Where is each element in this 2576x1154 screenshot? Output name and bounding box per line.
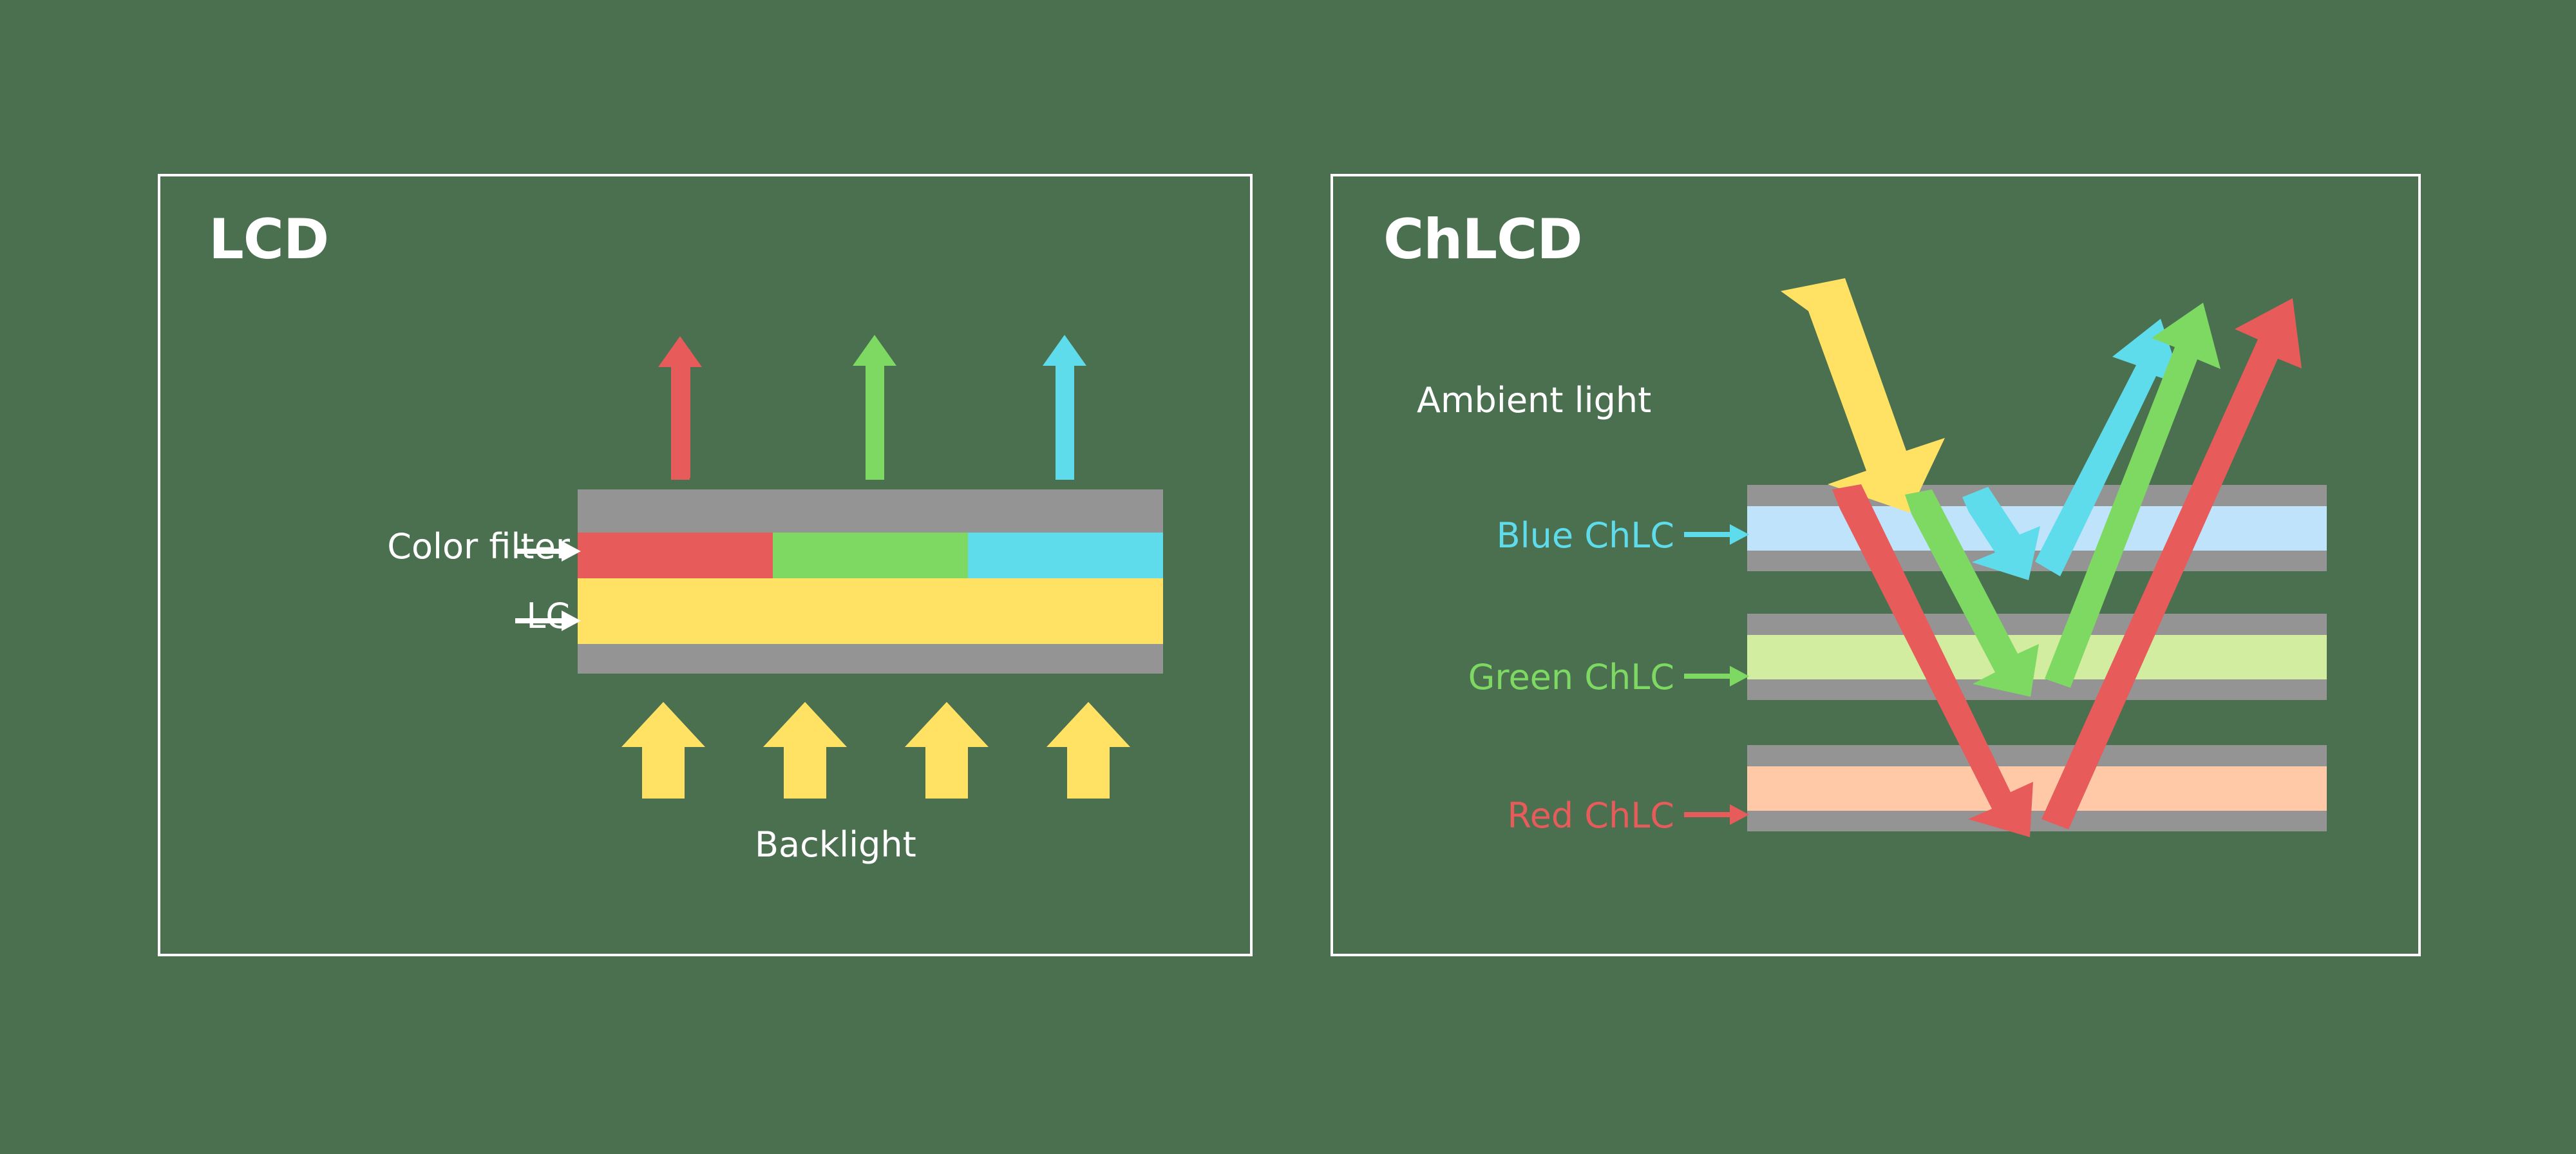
- panel-title-chlcd: ChLCD: [1383, 212, 1582, 267]
- panel-lcd: LCD: [158, 174, 1253, 956]
- label-green-chlc: Green ChLC: [1378, 660, 1674, 695]
- panel-chlcd: ChLCD: [1331, 174, 2421, 956]
- label-lc: LC: [261, 599, 570, 634]
- diagram-root: LCD Color filter LC Backlight ChLCD Ambi…: [0, 0, 2576, 1154]
- label-red-chlc: Red ChLC: [1378, 799, 1674, 833]
- label-backlight: Backlight: [755, 828, 916, 862]
- label-color-filter: Color filter: [261, 529, 570, 564]
- label-blue-chlc: Blue ChLC: [1378, 518, 1674, 553]
- panel-title-lcd: LCD: [209, 212, 328, 267]
- label-ambient-light: Ambient light: [1417, 383, 1651, 418]
